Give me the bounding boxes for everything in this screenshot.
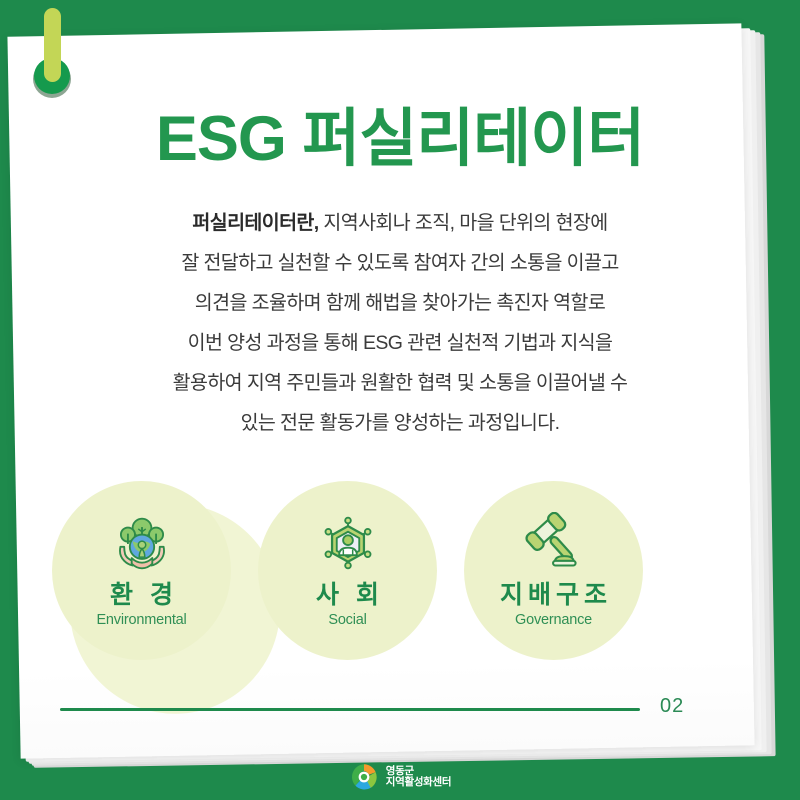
esg-card: ESG 퍼실리테이터 퍼실리테이터란, 지역사회나 조직, 마을 단위의 현장에…	[0, 0, 800, 800]
footer-divider	[60, 708, 640, 711]
body-line-5: 활용하여 지역 주민들과 원활한 협력 및 소통을 이끌어낼 수	[60, 363, 740, 403]
pillar-governance-ko: 지배구조	[495, 582, 612, 608]
pillar-social[interactable]: 사 회 Social	[258, 481, 437, 660]
brand-name: 영동군 지역활성화센터	[386, 766, 452, 788]
pillar-environmental-ko: 환 경	[105, 582, 178, 608]
pillar-environmental[interactable]: 환 경 Environmental	[52, 481, 231, 660]
body-line-1: 퍼실리테이터란, 지역사회나 조직, 마을 단위의 현장에	[60, 203, 740, 243]
pin-bar-front	[44, 46, 61, 82]
pillar-governance[interactable]: 지배구조 Governance	[464, 481, 643, 660]
brand-footer: 영동군 지역활성화센터	[0, 762, 800, 792]
body-paragraph: 퍼실리테이터란, 지역사회나 조직, 마을 단위의 현장에 잘 전달하고 실천할…	[60, 203, 740, 443]
pillar-social-en: Social	[328, 612, 366, 628]
gavel-icon	[524, 512, 584, 574]
brand-line-2: 지역활성화센터	[386, 777, 452, 788]
page-number: 02	[660, 695, 720, 718]
hexagon-person-network-icon	[318, 512, 378, 574]
body-line-3: 의견을 조율하며 함께 해법을 찾아가는 촉진자 역할로	[60, 283, 740, 323]
body-lead: 퍼실리테이터란,	[192, 212, 318, 234]
pillar-environmental-en: Environmental	[96, 612, 186, 628]
pin-clip-icon	[33, 8, 73, 98]
pillar-social-ko: 사 회	[311, 582, 384, 608]
body-line-4: 이번 양성 과정을 통해 ESG 관련 실천적 기법과 지식을	[60, 323, 740, 363]
circular-ring-logo-icon	[349, 762, 379, 792]
esg-pillars: 환 경 Environmental	[52, 481, 752, 661]
pillar-governance-en: Governance	[515, 612, 592, 628]
page-title: ESG 퍼실리테이터	[0, 88, 800, 179]
hands-earth-trees-icon	[112, 512, 172, 574]
card-content: ESG 퍼실리테이터 퍼실리테이터란, 지역사회나 조직, 마을 단위의 현장에…	[0, 0, 800, 800]
body-line-6: 있는 전문 활동가를 양성하는 과정입니다.	[60, 403, 740, 443]
body-line-2: 잘 전달하고 실천할 수 있도록 참여자 간의 소통을 이끌고	[60, 243, 740, 283]
body-line-1-rest: 지역사회나 조직, 마을 단위의 현장에	[319, 212, 608, 234]
